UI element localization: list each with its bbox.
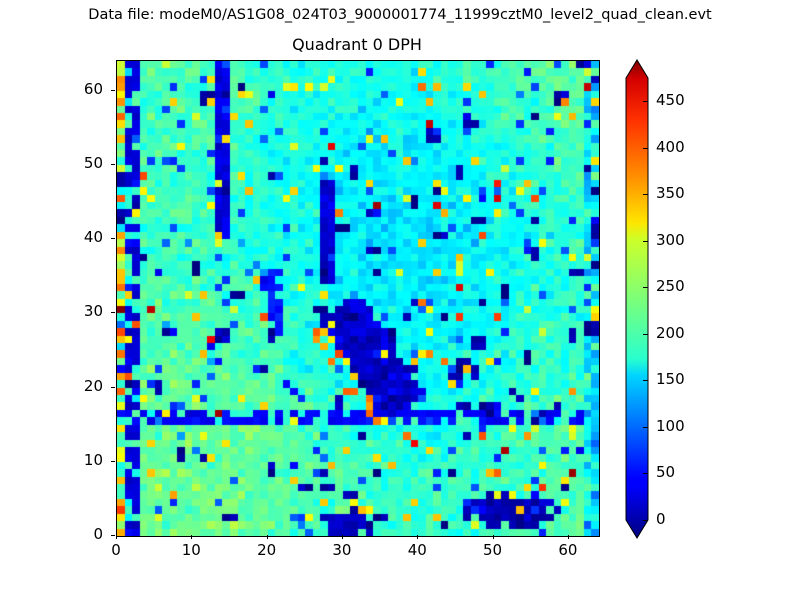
page-title: Quadrant 0 DPH — [116, 35, 598, 55]
x-tick — [342, 535, 343, 539]
y-tick — [111, 535, 115, 536]
x-tick — [116, 535, 117, 539]
colorbar-tick — [643, 241, 648, 242]
colorbar-tick — [643, 334, 648, 335]
colorbar-tick — [643, 194, 648, 195]
x-tick-label: 10 — [161, 542, 221, 559]
y-tick-label: 30 — [43, 303, 103, 320]
colorbar-tick — [643, 520, 648, 521]
heatmap-axes[interactable] — [116, 60, 600, 537]
x-tick-label: 60 — [538, 542, 598, 559]
colorbar-gradient — [626, 60, 726, 538]
colorbar-tick — [643, 380, 648, 381]
x-tick — [417, 535, 418, 539]
y-tick-label: 0 — [43, 526, 103, 543]
colorbar-tick-label: 50 — [656, 464, 675, 481]
x-tick — [493, 535, 494, 539]
colorbar-tick — [643, 287, 648, 288]
colorbar-tick-label: 100 — [656, 418, 685, 435]
y-tick-label: 40 — [43, 229, 103, 246]
colorbar-tick — [643, 101, 648, 102]
colorbar-tick-label: 400 — [656, 139, 685, 156]
colorbar-tick-label: 200 — [656, 325, 685, 342]
y-tick-label: 10 — [43, 452, 103, 469]
colorbar-tick-label: 450 — [656, 92, 685, 109]
x-tick — [191, 535, 192, 539]
x-tick-label: 40 — [387, 542, 447, 559]
colorbar-tick — [643, 427, 648, 428]
x-tick — [568, 535, 569, 539]
y-tick — [111, 461, 115, 462]
colorbar-tick-label: 0 — [656, 511, 666, 528]
colorbar-tick-label: 350 — [656, 185, 685, 202]
y-tick — [111, 312, 115, 313]
detector-heatmap-image[interactable] — [117, 61, 599, 536]
colorbar-tick — [643, 148, 648, 149]
data-file-suptitle: Data file: modeM0/AS1G08_024T03_90000017… — [0, 6, 800, 24]
y-tick — [111, 164, 115, 165]
figure-canvas: Data file: modeM0/AS1G08_024T03_90000017… — [0, 0, 800, 600]
colorbar[interactable]: 050100150200250300350400450 — [626, 60, 726, 538]
y-tick — [111, 90, 115, 91]
y-tick-label: 60 — [43, 81, 103, 98]
y-tick — [111, 238, 115, 239]
colorbar-tick-label: 150 — [656, 371, 685, 388]
x-tick-label: 0 — [86, 542, 146, 559]
x-tick-label: 20 — [237, 542, 297, 559]
y-tick — [111, 387, 115, 388]
colorbar-tick — [643, 473, 648, 474]
y-tick-label: 20 — [43, 378, 103, 395]
x-tick-label: 50 — [463, 542, 523, 559]
colorbar-tick-label: 300 — [656, 232, 685, 249]
y-tick-label: 50 — [43, 155, 103, 172]
colorbar-tick-label: 250 — [656, 278, 685, 295]
x-tick-label: 30 — [312, 542, 372, 559]
x-tick — [267, 535, 268, 539]
